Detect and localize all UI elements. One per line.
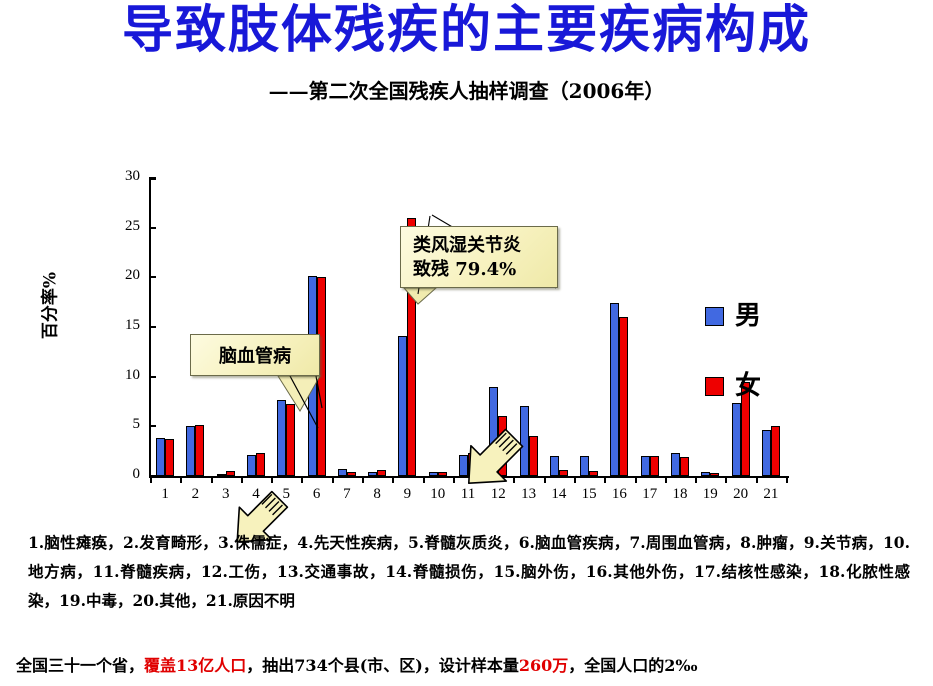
bar-male-8	[368, 472, 377, 476]
y-tick-label: 0	[100, 466, 140, 483]
bar-male-3	[217, 474, 226, 476]
x-tick	[665, 478, 667, 483]
x-tick	[392, 478, 394, 483]
bar-male-16	[610, 303, 619, 476]
footnote-highlight-sample: 260万	[519, 656, 568, 675]
x-tick-label-6: 6	[302, 486, 332, 503]
chart-legend: 男 女	[705, 303, 761, 443]
bar-female-6	[317, 277, 326, 476]
bar-male-18	[671, 453, 680, 476]
bar-female-4	[256, 453, 265, 476]
callout-cerebrovascular: 脑血管病	[190, 334, 320, 376]
x-tick-label-15: 15	[574, 486, 604, 503]
bar-female-3	[226, 471, 235, 476]
bar-chart: 百分率% 051015202530 1234567891011121314151…	[0, 108, 933, 518]
x-tick-label-16: 16	[604, 486, 634, 503]
x-tick	[786, 478, 788, 483]
y-axis-title: 百分率%	[36, 246, 61, 366]
bar-male-2	[186, 426, 195, 476]
y-tick-label: 10	[100, 367, 140, 384]
x-tick	[604, 478, 606, 483]
bar-male-14	[550, 456, 559, 476]
footnote-part2: ，抽出734个县(市、区)，设计样本量	[246, 656, 519, 675]
bar-female-17	[650, 456, 659, 476]
legend-swatch-female	[705, 377, 724, 396]
x-tick-label-19: 19	[695, 486, 725, 503]
legend-swatch-male	[705, 307, 724, 326]
x-tick	[574, 478, 576, 483]
x-tick-label-9: 9	[392, 486, 422, 503]
bar-male-15	[580, 456, 589, 476]
x-tick	[695, 478, 697, 483]
survey-footnote: 全国三十一个省，覆盖13亿人口，抽出734个县(市、区)，设计样本量260万，全…	[16, 652, 926, 676]
bar-male-7	[338, 469, 347, 476]
bar-male-6	[308, 276, 317, 476]
callout-ra-line2: 致残 79.4%	[413, 258, 557, 282]
y-tick-label: 20	[100, 267, 140, 284]
x-tick	[362, 478, 364, 483]
callout-ra-line1: 类风湿关节炎	[413, 234, 557, 258]
y-tick-label: 5	[100, 416, 140, 433]
x-tick-label-17: 17	[635, 486, 665, 503]
x-tick	[756, 478, 758, 483]
x-tick	[301, 478, 303, 483]
bar-male-10	[429, 472, 438, 476]
bar-female-18	[680, 457, 689, 476]
bar-female-14	[559, 470, 568, 476]
bar-male-4	[247, 455, 256, 476]
bar-male-19	[701, 472, 710, 476]
bar-female-10	[438, 472, 447, 476]
bar-female-7	[347, 472, 356, 476]
page-subtitle: ——第二次全国残疾人抽样调查（2006年）	[0, 75, 933, 104]
footnote-part3: ，全国人口的2‰	[568, 656, 697, 675]
y-tick-label: 30	[100, 168, 140, 185]
x-tick-label-7: 7	[332, 486, 362, 503]
callout-rheumatoid-arthritis: 类风湿关节炎 致残 79.4%	[400, 226, 558, 288]
bar-female-2	[195, 425, 204, 476]
x-tick-label-18: 18	[665, 486, 695, 503]
legend-label-female: 女	[735, 373, 761, 399]
bar-female-21	[771, 426, 780, 476]
highlight-arrow-right	[452, 426, 532, 502]
bar-female-5	[286, 404, 295, 477]
x-tick-label-14: 14	[544, 486, 574, 503]
x-tick-label-2: 2	[180, 486, 210, 503]
bar-female-1	[165, 439, 174, 476]
legend-item-male: 男	[705, 303, 761, 329]
x-tick	[211, 478, 213, 483]
x-tick	[241, 478, 243, 483]
bar-female-15	[589, 471, 598, 476]
x-tick	[635, 478, 637, 483]
x-tick	[725, 478, 727, 483]
bar-male-9	[398, 336, 407, 476]
y-tick-label: 25	[100, 218, 140, 235]
x-tick	[544, 478, 546, 483]
x-tick	[332, 478, 334, 483]
y-tick-label: 15	[100, 317, 140, 334]
bar-female-19	[710, 473, 719, 476]
bar-male-1	[156, 438, 165, 476]
legend-item-female: 女	[705, 373, 761, 399]
bar-female-16	[619, 317, 628, 476]
page-title: 导致肢体残疾的主要疾病构成	[0, 2, 933, 60]
bar-male-17	[641, 456, 650, 476]
legend-label-male: 男	[735, 303, 761, 329]
footnote-part1: 全国三十一个省，	[16, 656, 144, 675]
footnote-highlight-population: 覆盖13亿人口	[144, 656, 246, 675]
disease-index-list: 1.脑性瘫痪，2.发育畸形，3.侏儒症，4.先天性疾病，5.脊髓灰质炎，6.脑血…	[28, 528, 910, 615]
bar-male-21	[762, 430, 771, 476]
x-tick	[150, 478, 152, 483]
bar-female-8	[377, 470, 386, 476]
x-tick-label-8: 8	[362, 486, 392, 503]
x-tick	[423, 478, 425, 483]
x-tick-label-20: 20	[726, 486, 756, 503]
x-tick	[180, 478, 182, 483]
x-tick-label-21: 21	[756, 486, 786, 503]
x-tick	[271, 478, 273, 483]
x-tick-label-10: 10	[423, 486, 453, 503]
bar-male-5	[277, 400, 286, 476]
x-tick-label-1: 1	[150, 486, 180, 503]
